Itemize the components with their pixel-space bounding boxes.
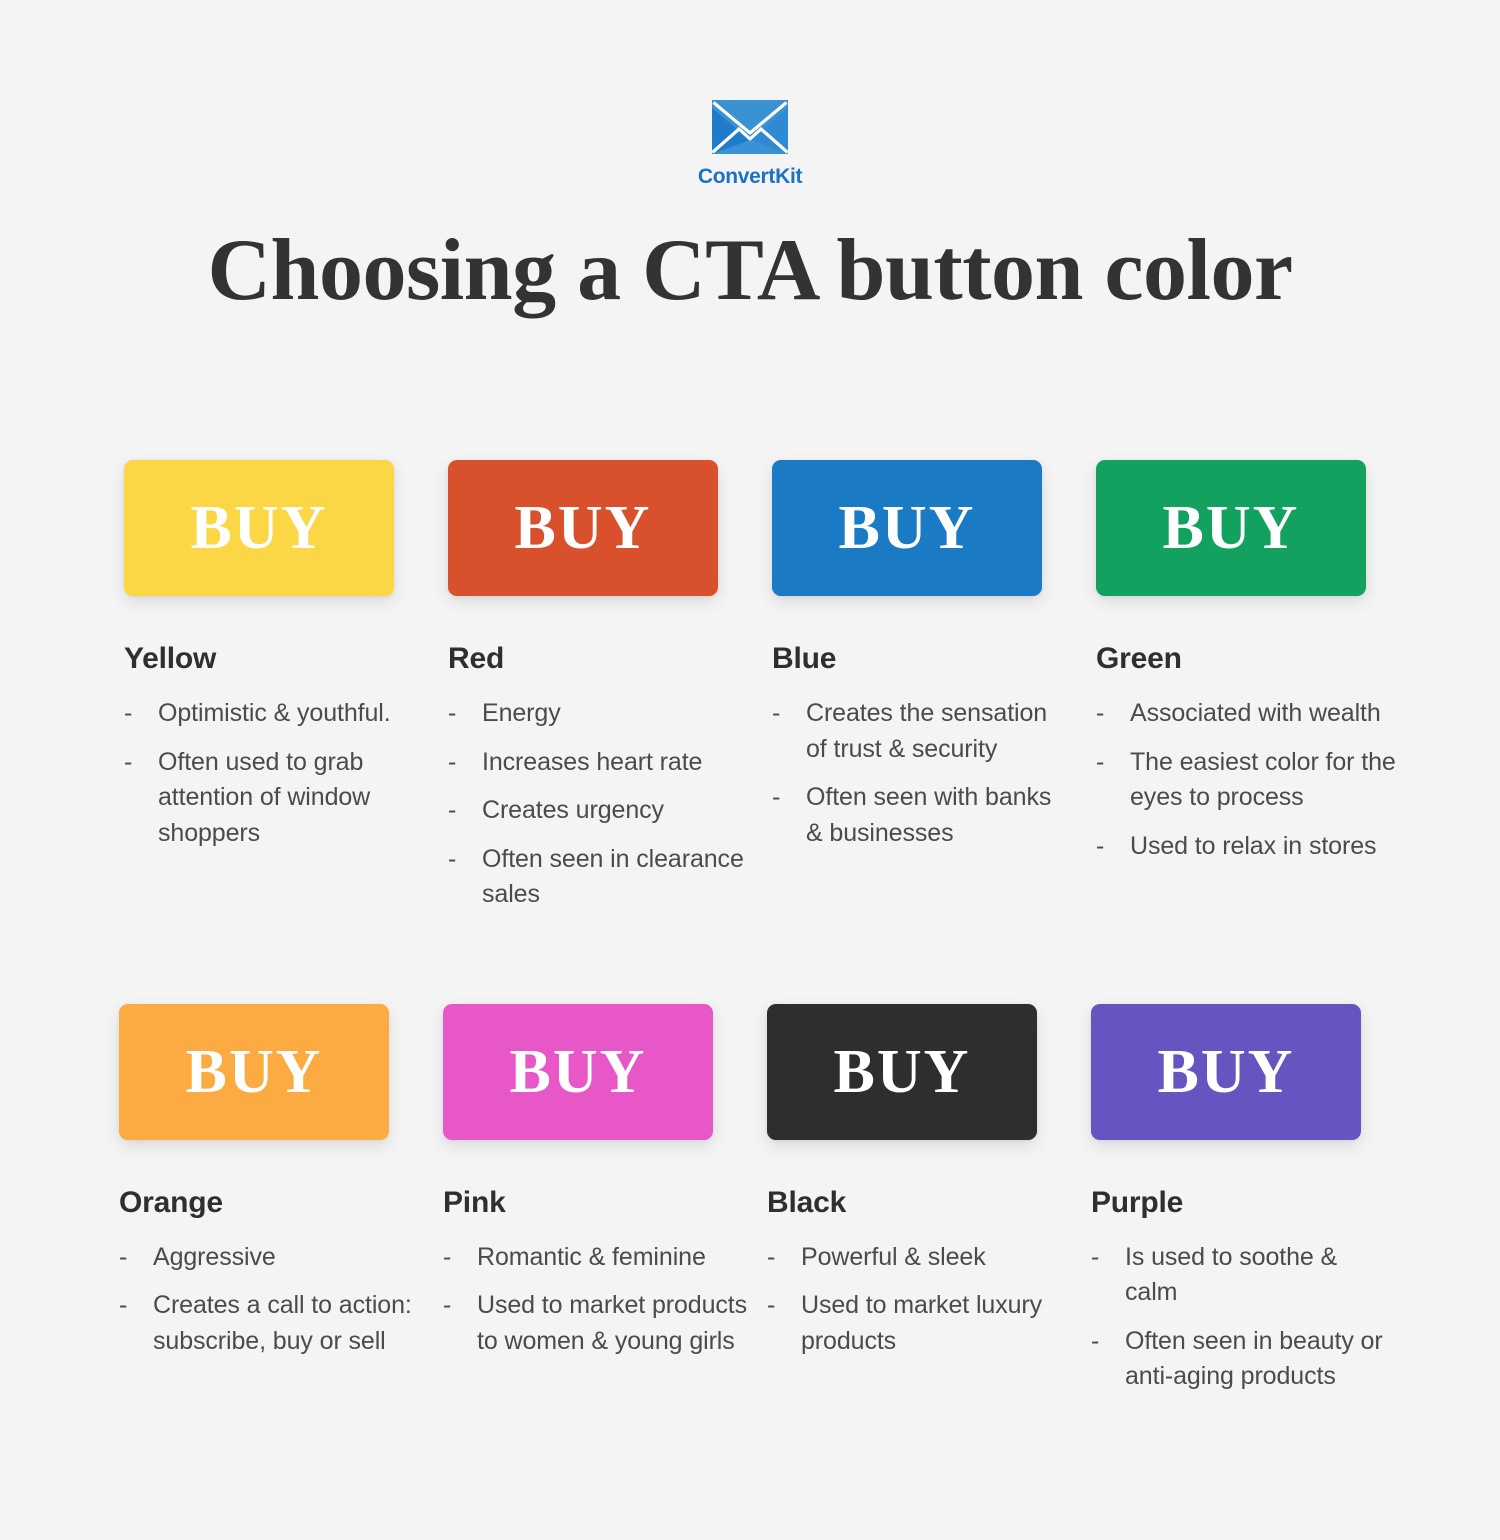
card-row-2: BUY Orange - Aggressive - Creates a call…	[100, 1004, 1410, 1408]
bullet-marker: -	[443, 1288, 477, 1324]
buy-button-label: BUY	[191, 497, 328, 559]
buy-button-orange[interactable]: BUY	[119, 1004, 389, 1140]
bullet-list-black: - Powerful & sleek - Used to market luxu…	[767, 1240, 1072, 1360]
color-name-green: Green	[1096, 642, 1396, 676]
list-item: - The easiest color for the eyes to proc…	[1096, 745, 1396, 816]
color-name-black: Black	[767, 1186, 1072, 1220]
bullet-marker: -	[1096, 745, 1130, 781]
bullet-text: Used to market products to women & young…	[477, 1288, 748, 1359]
bullet-marker: -	[1096, 696, 1130, 732]
bullet-text: Used to market luxury products	[801, 1288, 1072, 1359]
brand-wordmark: ConvertKit	[698, 165, 802, 189]
buy-button-purple[interactable]: BUY	[1091, 1004, 1361, 1140]
list-item: - Energy	[448, 696, 748, 732]
bullet-text: Is used to soothe & calm	[1125, 1240, 1396, 1311]
bullet-text: Energy	[482, 696, 561, 732]
page-title: Choosing a CTA button color	[0, 222, 1500, 321]
color-name-purple: Purple	[1091, 1186, 1396, 1220]
bullet-text: Often seen in clearance sales	[482, 842, 748, 913]
bullet-marker: -	[448, 793, 482, 829]
bullet-text: Romantic & feminine	[477, 1240, 706, 1276]
buy-button-green[interactable]: BUY	[1096, 460, 1366, 596]
bullet-marker: -	[443, 1240, 477, 1276]
buy-button-label: BUY	[510, 1041, 647, 1103]
bullet-marker: -	[1091, 1240, 1125, 1276]
bullet-text: Optimistic & youthful.	[158, 696, 391, 732]
list-item: - Used to relax in stores	[1096, 829, 1396, 865]
bullet-text: Often seen with banks & businesses	[806, 780, 1072, 851]
list-item: - Often used to grab attention of window…	[124, 745, 424, 852]
buy-button-label: BUY	[834, 1041, 971, 1103]
bullet-text: Powerful & sleek	[801, 1240, 986, 1276]
bullet-text: The easiest color for the eyes to proces…	[1130, 745, 1396, 816]
bullet-marker: -	[448, 745, 482, 781]
bullet-list-red: - Energy - Increases heart rate - Create…	[448, 696, 748, 913]
color-card-red: BUY Red - Energy - Increases heart rate …	[424, 460, 748, 926]
bullet-list-purple: - Is used to soothe & calm - Often seen …	[1091, 1240, 1396, 1395]
bullet-text: Often seen in beauty or anti-aging produ…	[1125, 1324, 1396, 1395]
bullet-marker: -	[448, 696, 482, 732]
buy-button-label: BUY	[839, 497, 976, 559]
buy-button-label: BUY	[515, 497, 652, 559]
color-card-green: BUY Green - Associated with wealth - The…	[1072, 460, 1396, 877]
list-item: - Increases heart rate	[448, 745, 748, 781]
list-item: - Powerful & sleek	[767, 1240, 1072, 1276]
bullet-text: Increases heart rate	[482, 745, 702, 781]
color-name-red: Red	[448, 642, 748, 676]
list-item: - Often seen in clearance sales	[448, 842, 748, 913]
bullet-marker: -	[448, 842, 482, 878]
brand-header: ConvertKit	[0, 100, 1500, 189]
bullet-marker: -	[1091, 1324, 1125, 1360]
color-card-grid: BUY Yellow - Optimistic & youthful. - Of…	[100, 460, 1410, 1408]
bullet-text: Creates the sensation of trust & securit…	[806, 696, 1072, 767]
bullet-text: Creates urgency	[482, 793, 664, 829]
infographic-page: ConvertKit Choosing a CTA button color B…	[0, 0, 1500, 1540]
buy-button-label: BUY	[1158, 1041, 1295, 1103]
color-name-pink: Pink	[443, 1186, 748, 1220]
bullet-text: Associated with wealth	[1130, 696, 1381, 732]
color-card-purple: BUY Purple - Is used to soothe & calm - …	[1072, 1004, 1396, 1408]
buy-button-label: BUY	[186, 1041, 323, 1103]
list-item: - Creates the sensation of trust & secur…	[772, 696, 1072, 767]
bullet-list-yellow: - Optimistic & youthful. - Often used to…	[124, 696, 424, 851]
color-name-blue: Blue	[772, 642, 1072, 676]
bullet-text: Often used to grab attention of window s…	[158, 745, 424, 852]
buy-button-black[interactable]: BUY	[767, 1004, 1037, 1140]
list-item: - Often seen in beauty or anti-aging pro…	[1091, 1324, 1396, 1395]
bullet-list-blue: - Creates the sensation of trust & secur…	[772, 696, 1072, 851]
list-item: - Often seen with banks & businesses	[772, 780, 1072, 851]
color-card-blue: BUY Blue - Creates the sensation of trus…	[748, 460, 1072, 864]
bullet-marker: -	[767, 1288, 801, 1324]
list-item: - Creates urgency	[448, 793, 748, 829]
color-name-yellow: Yellow	[124, 642, 424, 676]
buy-button-red[interactable]: BUY	[448, 460, 718, 596]
bullet-marker: -	[1096, 829, 1130, 865]
buy-button-pink[interactable]: BUY	[443, 1004, 713, 1140]
list-item: - Associated with wealth	[1096, 696, 1396, 732]
buy-button-yellow[interactable]: BUY	[124, 460, 394, 596]
color-name-orange: Orange	[119, 1186, 424, 1220]
color-card-orange: BUY Orange - Aggressive - Creates a call…	[100, 1004, 424, 1373]
bullet-text: Creates a call to action: subscribe, buy…	[153, 1288, 424, 1359]
color-card-pink: BUY Pink - Romantic & feminine - Used to…	[424, 1004, 748, 1373]
bullet-marker: -	[119, 1240, 153, 1276]
envelope-icon	[712, 100, 788, 154]
list-item: - Used to market products to women & you…	[443, 1288, 748, 1359]
bullet-marker: -	[124, 696, 158, 732]
bullet-list-green: - Associated with wealth - The easiest c…	[1096, 696, 1396, 864]
list-item: - Aggressive	[119, 1240, 424, 1276]
bullet-list-pink: - Romantic & feminine - Used to market p…	[443, 1240, 748, 1360]
bullet-text: Aggressive	[153, 1240, 276, 1276]
list-item: - Used to market luxury products	[767, 1288, 1072, 1359]
color-card-black: BUY Black - Powerful & sleek - Used to m…	[748, 1004, 1072, 1373]
buy-button-blue[interactable]: BUY	[772, 460, 1042, 596]
list-item: - Creates a call to action: subscribe, b…	[119, 1288, 424, 1359]
bullet-list-orange: - Aggressive - Creates a call to action:…	[119, 1240, 424, 1360]
list-item: - Optimistic & youthful.	[124, 696, 424, 732]
card-row-1: BUY Yellow - Optimistic & youthful. - Of…	[100, 460, 1410, 926]
bullet-marker: -	[772, 696, 806, 732]
list-item: - Is used to soothe & calm	[1091, 1240, 1396, 1311]
bullet-marker: -	[119, 1288, 153, 1324]
bullet-text: Used to relax in stores	[1130, 829, 1376, 865]
bullet-marker: -	[124, 745, 158, 781]
buy-button-label: BUY	[1163, 497, 1300, 559]
color-card-yellow: BUY Yellow - Optimistic & youthful. - Of…	[100, 460, 424, 864]
bullet-marker: -	[767, 1240, 801, 1276]
bullet-marker: -	[772, 780, 806, 816]
list-item: - Romantic & feminine	[443, 1240, 748, 1276]
